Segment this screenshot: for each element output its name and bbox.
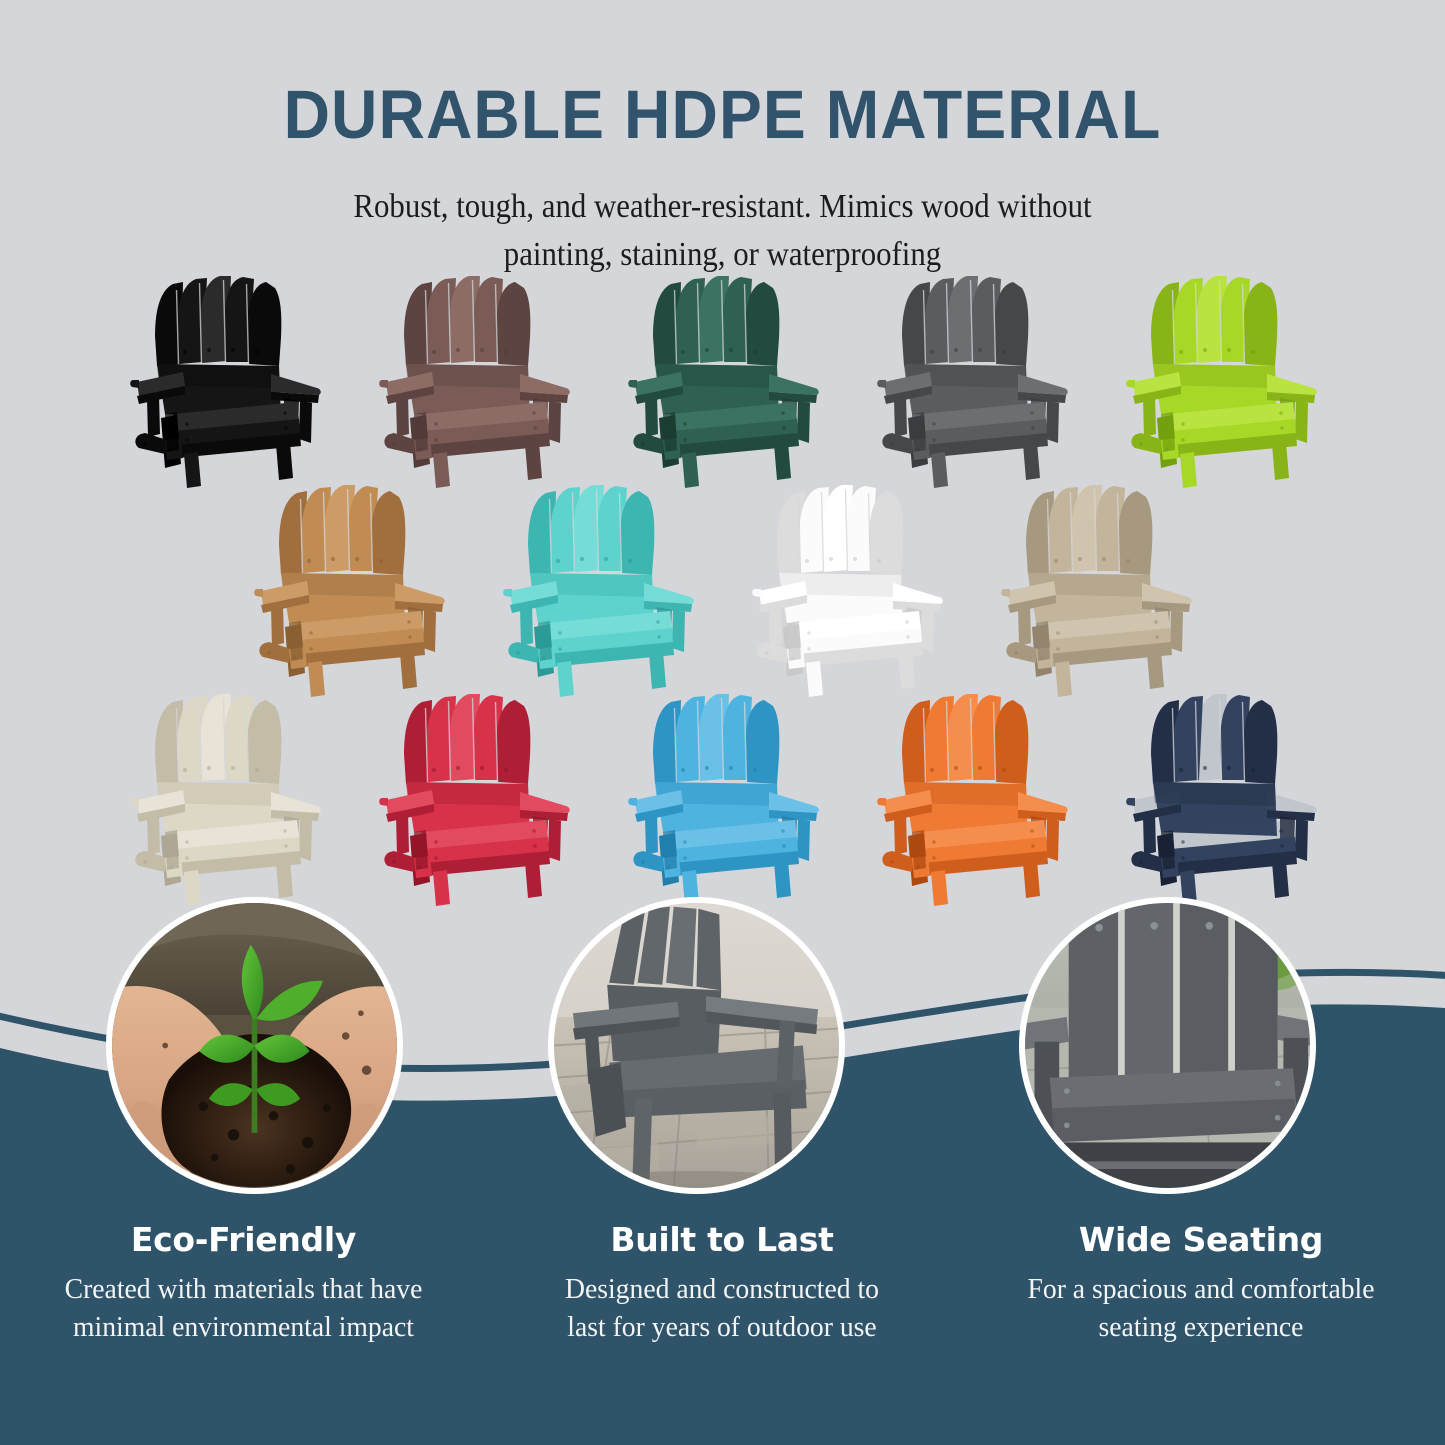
feature-desc-line-1: For a spacious and comfortable: [976, 1271, 1426, 1309]
page-subtitle: Robust, tough, and weather-resistant. Mi…: [58, 183, 1387, 278]
chair-swatch-teak[interactable]: [245, 477, 453, 699]
feature-image-built-to-last: [548, 897, 845, 1194]
infographic-page: DURABLE HDPE MATERIAL Robust, tough, and…: [0, 0, 1445, 1445]
chair-swatch-navy[interactable]: [1117, 686, 1325, 908]
chair-row-1: [0, 268, 1445, 490]
chair-row-3: [0, 686, 1445, 908]
header: DURABLE HDPE MATERIAL Robust, tough, and…: [0, 0, 1445, 278]
feature-eco-friendly: Eco-Friendly Created with materials that…: [0, 1222, 487, 1347]
chair-swatch-white[interactable]: [743, 477, 951, 699]
chair-swatch-dark-green[interactable]: [619, 268, 827, 490]
chair-swatch-light-blue[interactable]: [619, 686, 827, 908]
chair-swatch-red[interactable]: [370, 686, 578, 908]
chair-swatch-orange[interactable]: [868, 686, 1076, 908]
chair-swatch-black[interactable]: [121, 268, 329, 490]
chair-row-2: [0, 477, 1445, 699]
chair-swatch-dark-gray[interactable]: [868, 268, 1076, 490]
chair-swatch-turquoise[interactable]: [494, 477, 702, 699]
feature-image-eco-friendly: [106, 897, 403, 1194]
feature-captions: Eco-Friendly Created with materials that…: [0, 1222, 1445, 1347]
feature-desc-eco-friendly: Created with materials that have minimal…: [19, 1271, 468, 1346]
feature-image-wide-seating: [1019, 897, 1316, 1194]
chair-color-grid: [0, 268, 1445, 908]
chair-swatch-ivory[interactable]: [121, 686, 329, 908]
page-title: DURABLE HDPE MATERIAL: [51, 80, 1395, 149]
chair-swatch-lime-green[interactable]: [1117, 268, 1325, 490]
feature-desc-line-2: minimal environmental impact: [19, 1309, 468, 1347]
photo-gray-chair-on-patio: [554, 903, 839, 1188]
feature-desc-wide-seating: For a spacious and comfortable seating e…: [976, 1271, 1426, 1346]
feature-built-to-last: Built to Last Designed and constructed t…: [487, 1222, 957, 1347]
feature-desc-line-2: last for years of outdoor use: [506, 1309, 939, 1347]
feature-title-eco-friendly: Eco-Friendly: [12, 1222, 475, 1258]
subtitle-line-1: Robust, tough, and weather-resistant. Mi…: [58, 183, 1387, 231]
feature-desc-built-to-last: Designed and constructed to last for yea…: [506, 1271, 939, 1346]
feature-title-wide-seating: Wide Seating: [969, 1222, 1433, 1258]
photo-hands-holding-seedling: [112, 903, 397, 1188]
feature-wide-seating: Wide Seating For a spacious and comforta…: [957, 1222, 1445, 1347]
feature-title-built-to-last: Built to Last: [499, 1222, 945, 1258]
photo-gray-chair-wide-seat-closeup: [1025, 903, 1310, 1188]
feature-desc-line-1: Created with materials that have: [19, 1271, 468, 1309]
chair-swatch-brown[interactable]: [370, 268, 578, 490]
chair-swatch-taupe[interactable]: [992, 477, 1200, 699]
feature-desc-line-2: seating experience: [976, 1309, 1426, 1347]
feature-desc-line-1: Designed and constructed to: [506, 1271, 939, 1309]
